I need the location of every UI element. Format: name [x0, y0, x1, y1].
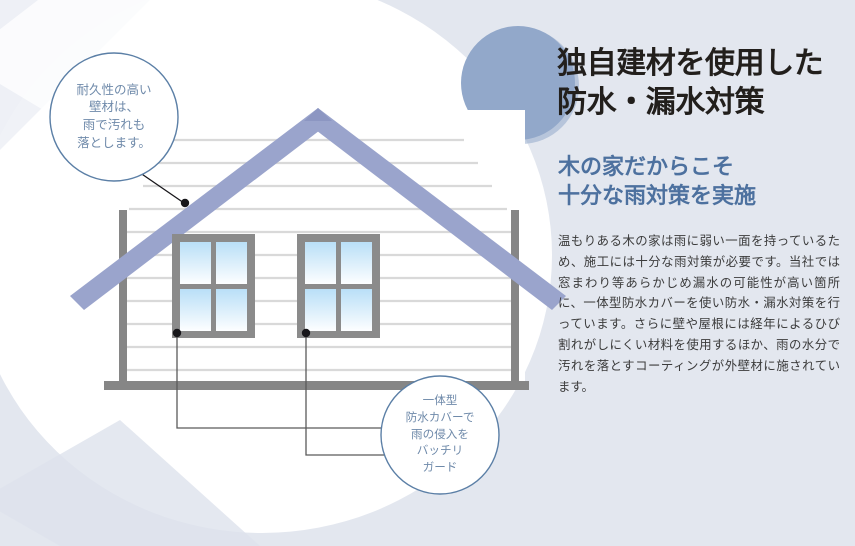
leader-dot-roof: [181, 199, 189, 207]
window-right: [297, 234, 380, 338]
page-title: 独自建材を使用した 防水・漏水対策: [557, 44, 849, 122]
waterproof-cover-callout-text: 一体型 防水カバーで 雨の侵入を バッチリ ガード: [381, 393, 499, 478]
house-right-post: [511, 210, 519, 390]
leader-dot-window-left: [173, 329, 181, 337]
house-left-post: [119, 210, 127, 390]
leader-dot-window-right: [302, 329, 310, 337]
window-left: [172, 234, 255, 338]
waterproof-cover-callout[interactable]: 一体型 防水カバーで 雨の侵入を バッチリ ガード: [381, 376, 499, 494]
slide-canvas: 耐久性の高い 壁材は、 雨で汚れも 落とします。 一体型 防水カバーで 雨の侵入…: [0, 0, 855, 546]
text-column: 独自建材を使用した 防水・漏水対策 木の家だからこそ 十分な雨対策を実施 温もり…: [557, 0, 847, 546]
durable-wall-callout-text: 耐久性の高い 壁材は、 雨で汚れも 落とします。: [50, 82, 178, 153]
page-subtitle: 木の家だからこそ 十分な雨対策を実施: [558, 152, 850, 211]
durable-wall-callout[interactable]: 耐久性の高い 壁材は、 雨で汚れも 落とします。: [50, 53, 178, 181]
body-paragraph: 温もりある木の家は雨に弱い一面を持っているため、施工には十分な雨対策が必要です。…: [558, 231, 840, 398]
